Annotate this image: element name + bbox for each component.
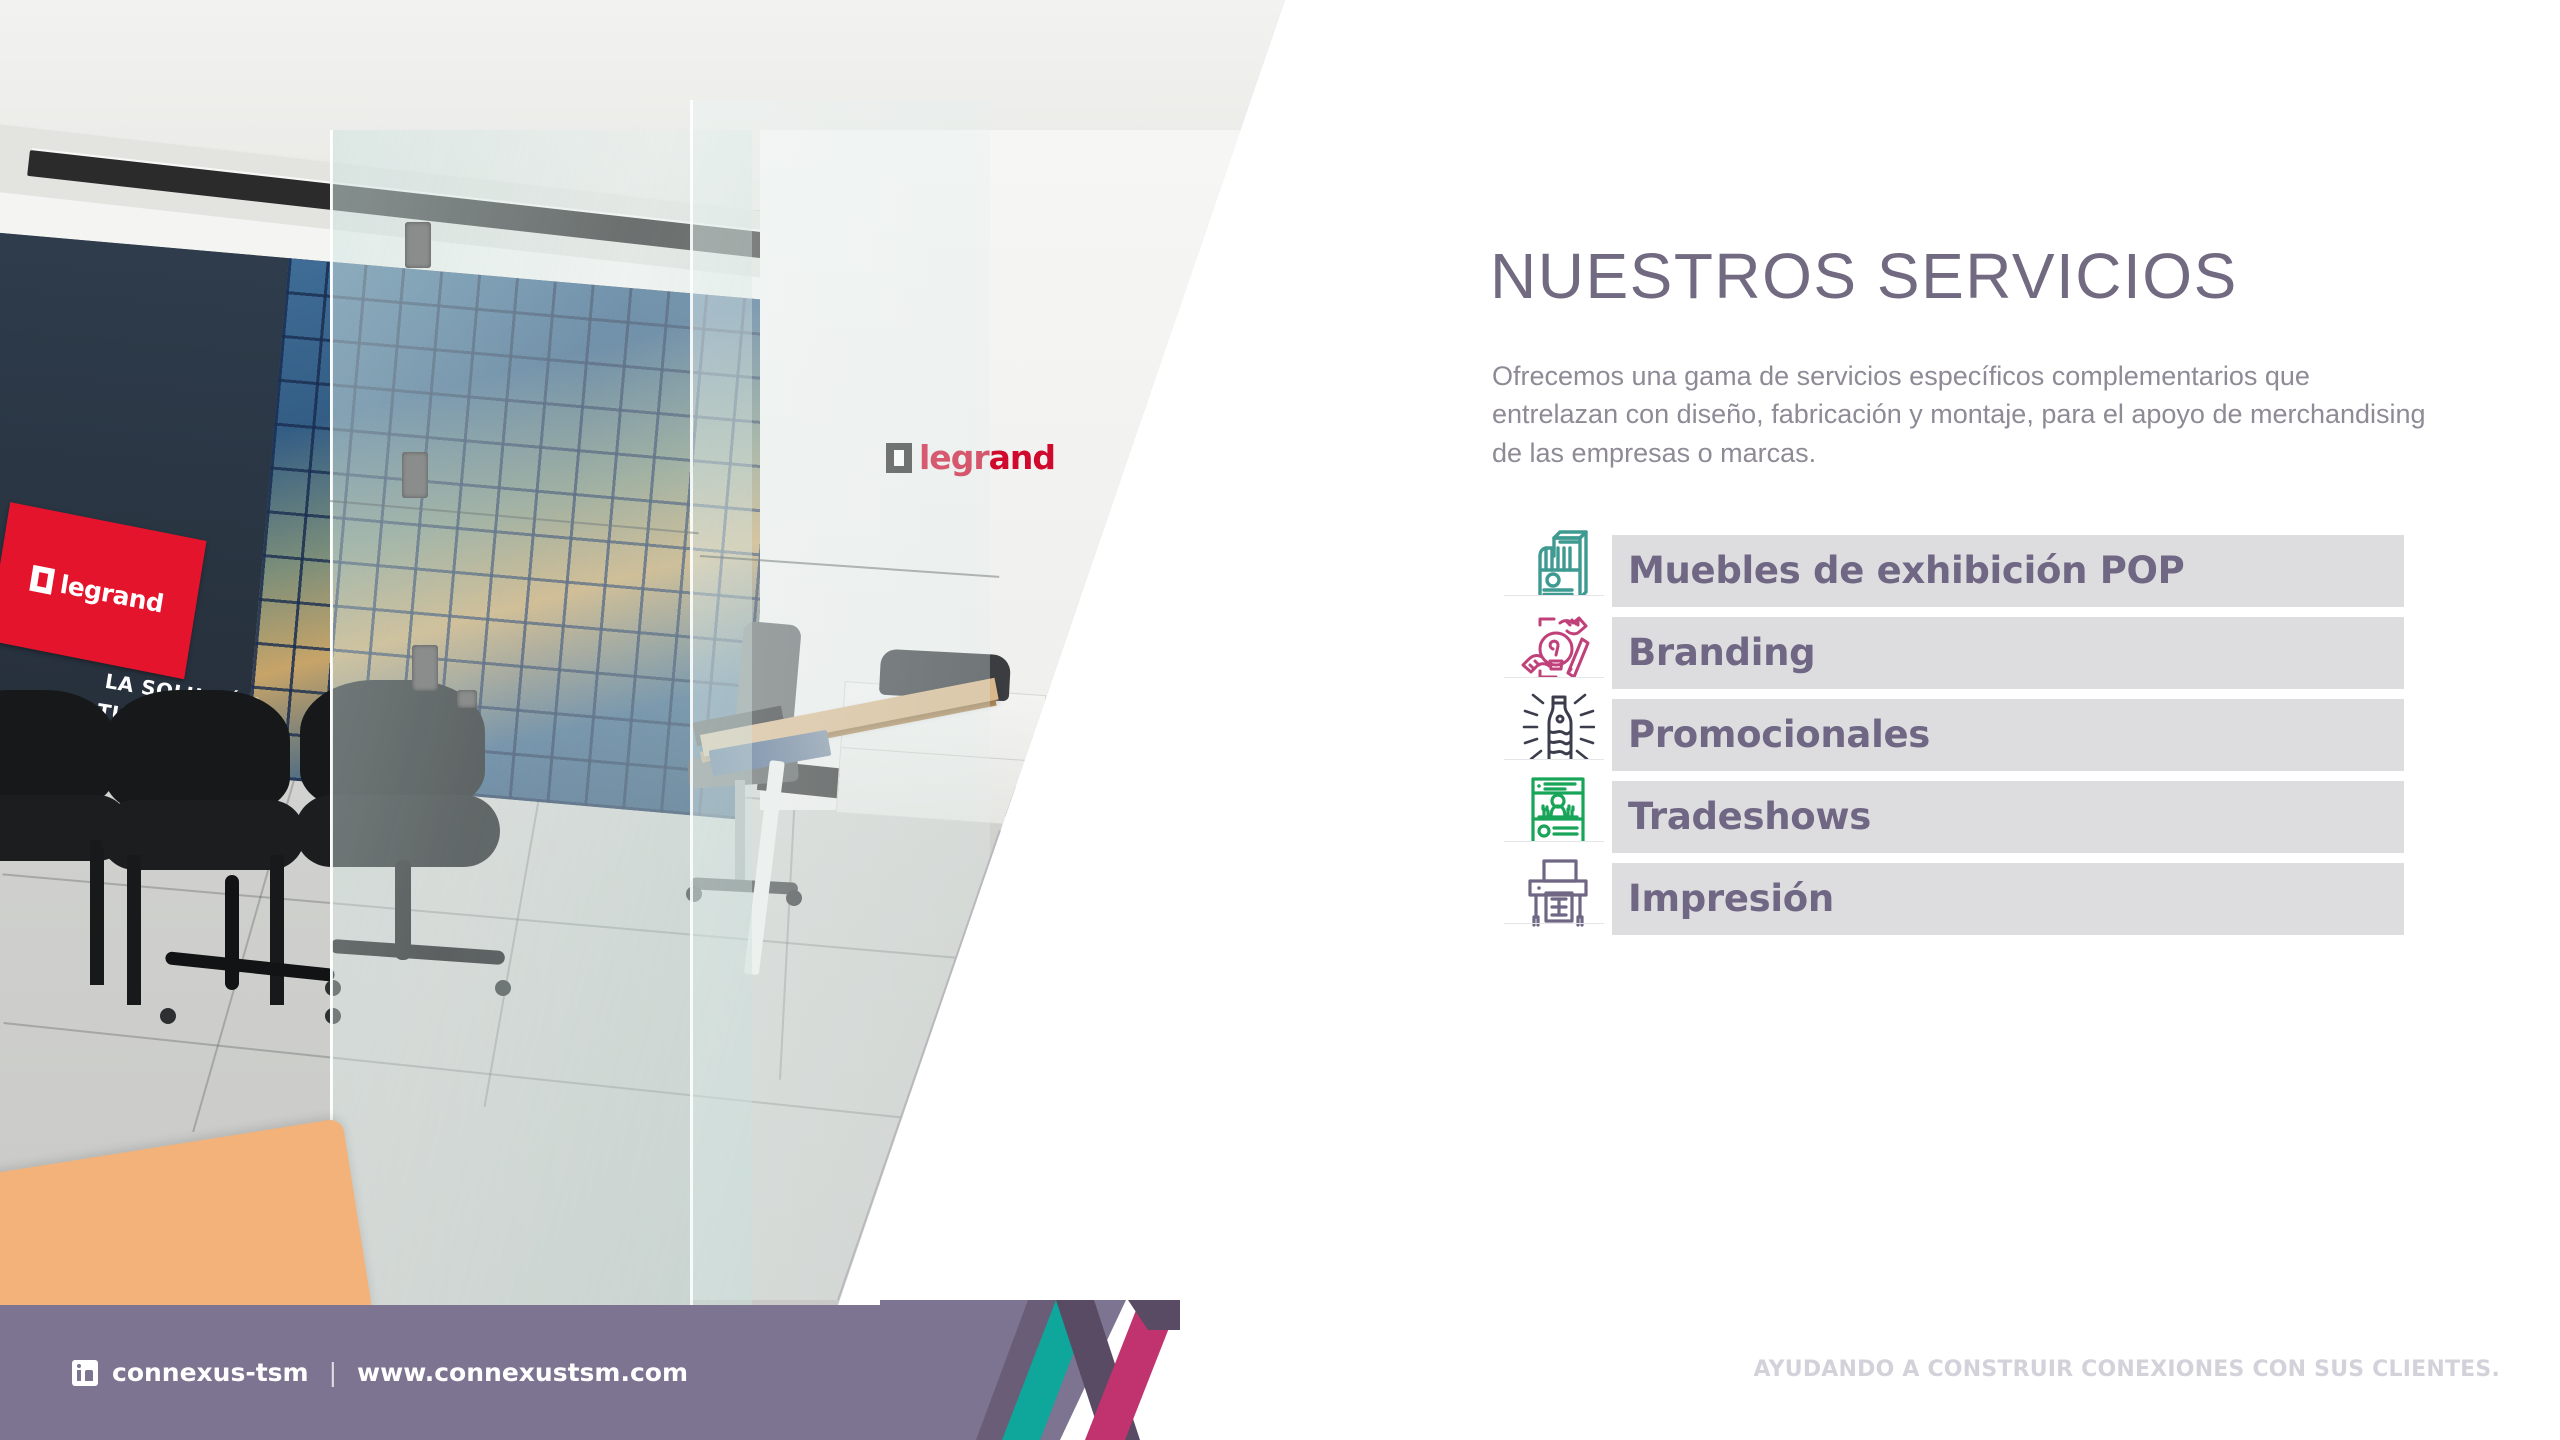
service-row-tradeshows[interactable]: Tradeshows <box>1504 781 2504 863</box>
glass-door-hinge <box>405 222 431 268</box>
glass-door-hinge <box>412 645 438 691</box>
page-title: NUESTROS SERVICIOS <box>1490 239 2238 313</box>
footer: connexus-tsm | www.connexustsm.com AYUDA… <box>0 1305 2560 1440</box>
services-list: Muebles de exhibición POP <box>1504 535 2504 945</box>
service-label: Branding <box>1628 617 1815 689</box>
website-link[interactable]: www.connexustsm.com <box>357 1358 688 1387</box>
service-separator <box>1504 677 1604 678</box>
slide-root: legrand LA SOLUCIÓN QUE TU PROYECTO NECE… <box>0 0 2560 1440</box>
intro-paragraph: Ofrecemos una gama de servicios específi… <box>1492 357 2442 472</box>
service-separator <box>1504 923 1604 924</box>
footer-contact: connexus-tsm | www.connexustsm.com <box>72 1358 688 1387</box>
glass-floor-bracket <box>457 690 477 708</box>
connexus-logo-mark <box>880 1300 1200 1440</box>
service-separator <box>1504 841 1604 842</box>
service-label: Promocionales <box>1628 699 1930 771</box>
legrand-mark-icon <box>29 565 55 595</box>
service-label: Muebles de exhibición POP <box>1628 535 2184 607</box>
linkedin-icon[interactable] <box>72 1360 98 1386</box>
mural-brand-label: legrand <box>58 569 166 618</box>
service-row-promocionales[interactable]: Promocionales <box>1504 699 2504 781</box>
service-label: Tradeshows <box>1628 781 1871 853</box>
glass-door-hinge <box>402 452 428 498</box>
printer-icon <box>1504 841 1612 945</box>
footer-tagline: AYUDANDO A CONSTRUIR CONEXIONES CON SUS … <box>1754 1357 2500 1382</box>
service-label: Impresión <box>1628 863 1834 935</box>
content-column: NUESTROS SERVICIOS Ofrecemos una gama de… <box>1490 0 2560 1305</box>
glass-partition-left <box>330 130 752 1305</box>
linkedin-handle[interactable]: connexus-tsm <box>112 1358 309 1387</box>
footer-divider: | <box>323 1358 343 1387</box>
service-separator <box>1504 595 1604 596</box>
service-row-branding[interactable]: Branding <box>1504 617 2504 699</box>
glass-edge <box>690 100 693 1305</box>
service-row-impresion[interactable]: Impresión <box>1504 863 2504 945</box>
service-row-muebles-de-exhibicion-pop[interactable]: Muebles de exhibición POP <box>1504 535 2504 617</box>
office-interior-photo: legrand LA SOLUCIÓN QUE TU PROYECTO NECE… <box>0 0 1300 1305</box>
service-separator <box>1504 759 1604 760</box>
